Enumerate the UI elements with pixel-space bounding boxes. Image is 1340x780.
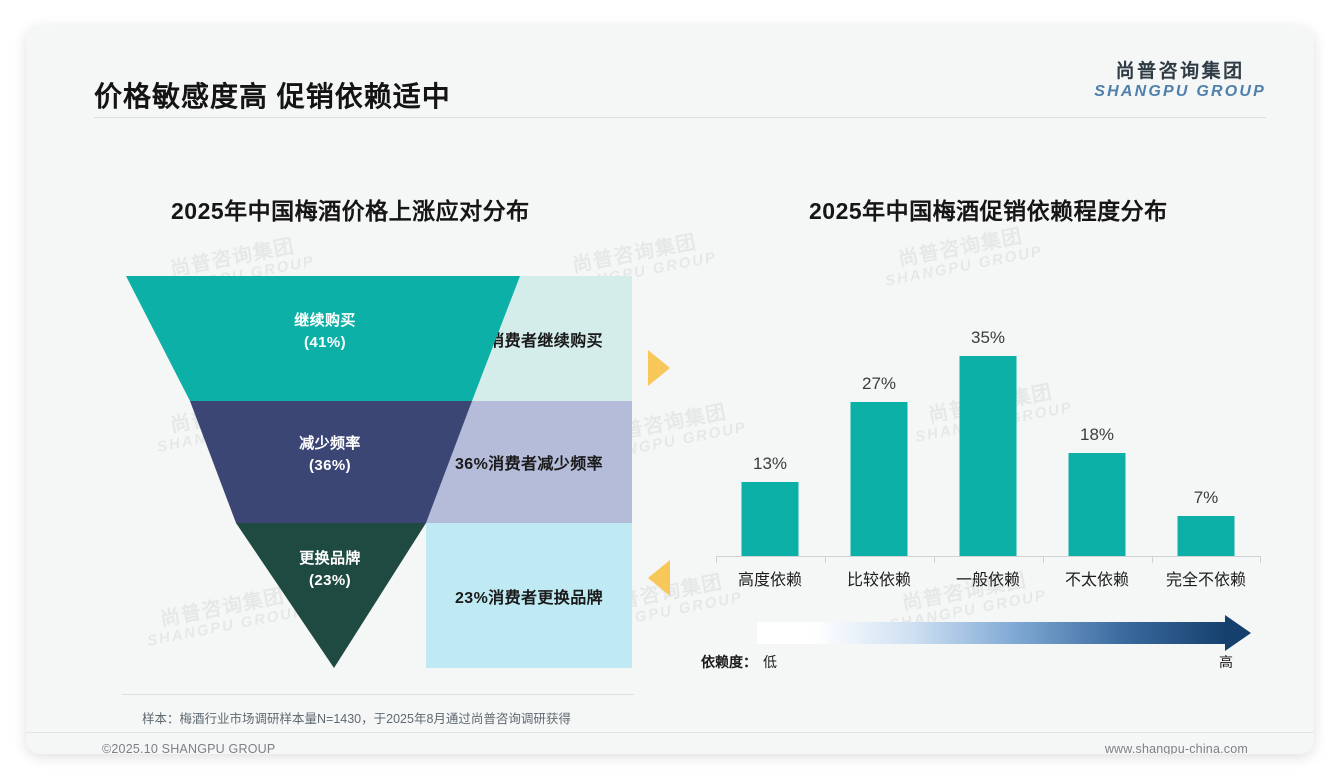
funnel-segment-label: 继续购买 (41%) (230, 310, 420, 354)
brand-name-en: SHANGPU GROUP (1094, 83, 1266, 100)
bar-value-label: 35% (934, 328, 1042, 348)
slide-header: 价格敏感度高 促销依赖适中 尚普咨询集团 SHANGPU GROUP (26, 26, 1314, 117)
bar-column[interactable]: 35% 一般依赖 (934, 296, 1042, 556)
arrow-left-icon (648, 560, 670, 596)
bar-rect[interactable] (742, 482, 799, 556)
bar-value-label: 7% (1152, 488, 1260, 508)
funnel-segment-name: 更换品牌 (239, 548, 421, 570)
watermark-cn: 尚普咨询集团 (554, 229, 715, 280)
axis-tick (934, 556, 935, 563)
bar-rect[interactable] (1178, 516, 1235, 556)
legend-high-label: 高 (1219, 652, 1233, 672)
bar-value-label: 27% (825, 374, 933, 394)
bar-rect[interactable] (851, 402, 908, 556)
right-chart-title: 2025年中国梅酒促销依赖程度分布 (809, 192, 1168, 226)
bar-rect[interactable] (960, 356, 1017, 556)
footer-divider (26, 732, 1314, 733)
slide-canvas: 尚普咨询集团 SHANGPU GROUP 尚普咨询集团 SHANGPU GROU… (26, 26, 1314, 754)
funnel-band: 36%消费者减少频率 减少频率 (36%) (122, 401, 632, 523)
funnel-segment-value: (36%) (235, 455, 425, 477)
axis-tick (1260, 556, 1261, 563)
footer-copyright: ©2025.10 SHANGPU GROUP (102, 742, 275, 754)
funnel-band: 23%消费者更换品牌 更换品牌 (23%) (122, 523, 632, 668)
bar-category-label: 比较依赖 (825, 566, 933, 590)
bar-column[interactable]: 13% 高度依赖 (716, 296, 824, 556)
bar-value-label: 13% (716, 454, 824, 474)
footnote-divider (122, 694, 634, 695)
bar-rect[interactable] (1069, 453, 1126, 556)
funnel-segment-label: 更换品牌 (23%) (239, 548, 421, 592)
bar-column[interactable]: 18% 不太依赖 (1043, 296, 1151, 556)
funnel-segment-value: (41%) (230, 332, 420, 354)
gradient-bar (757, 622, 1227, 644)
funnel-segment-value: (23%) (239, 570, 421, 592)
funnel-band: 41%消费者继续购买 继续购买 (41%) (122, 276, 632, 401)
axis-tick (825, 556, 826, 563)
legend-label: 依赖度： (701, 652, 757, 672)
funnel-segment-name: 继续购买 (230, 310, 420, 332)
bar-category-label: 不太依赖 (1043, 566, 1151, 590)
footer-website[interactable]: www.shangpu-china.com (1105, 742, 1248, 754)
axis-tick (716, 556, 717, 563)
left-chart-title: 2025年中国梅酒价格上涨应对分布 (171, 192, 530, 226)
funnel-segment-shape (122, 523, 632, 668)
gradient-arrow-icon (1225, 615, 1251, 651)
bar-category-label: 高度依赖 (716, 566, 824, 590)
watermark-en: SHANGPU GROUP (884, 244, 1044, 290)
footnote-text: 样本：梅酒行业市场调研样本量N=1430，于2025年8月通过尚普咨询调研获得 (142, 708, 571, 727)
brand-logo: 尚普咨询集团 SHANGPU GROUP (1094, 62, 1266, 100)
axis-tick (1152, 556, 1153, 563)
watermark-cn: 尚普咨询集团 (880, 223, 1041, 274)
bar-chart: 13% 高度依赖 27% 比较依赖 35% 一般依赖 18% 不太依赖 7% 完… (716, 296, 1261, 596)
bar-chart-axis (716, 556, 1261, 557)
brand-name-cn: 尚普咨询集团 (1094, 62, 1266, 83)
funnel-chart: 41%消费者继续购买 继续购买 (41%) 36%消费者减少频率 减少频率 (3… (122, 276, 632, 668)
page-title: 价格敏感度高 促销依赖适中 (94, 75, 451, 115)
funnel-segment-name: 减少频率 (235, 433, 425, 455)
bar-category-label: 完全不依赖 (1152, 566, 1260, 590)
funnel-segment-label: 减少频率 (36%) (235, 433, 425, 477)
watermark: 尚普咨询集团 SHANGPU GROUP (880, 223, 1044, 290)
axis-tick (1043, 556, 1044, 563)
bar-column[interactable]: 27% 比较依赖 (825, 296, 933, 556)
header-divider (94, 117, 1266, 118)
bar-column[interactable]: 7% 完全不依赖 (1152, 296, 1260, 556)
arrow-right-icon (648, 350, 670, 386)
bar-category-label: 一般依赖 (934, 566, 1042, 590)
legend-low-label: 低 (763, 652, 777, 672)
dependency-gradient-legend: 依赖度： 低 高 (701, 622, 1261, 680)
bar-value-label: 18% (1043, 425, 1151, 445)
